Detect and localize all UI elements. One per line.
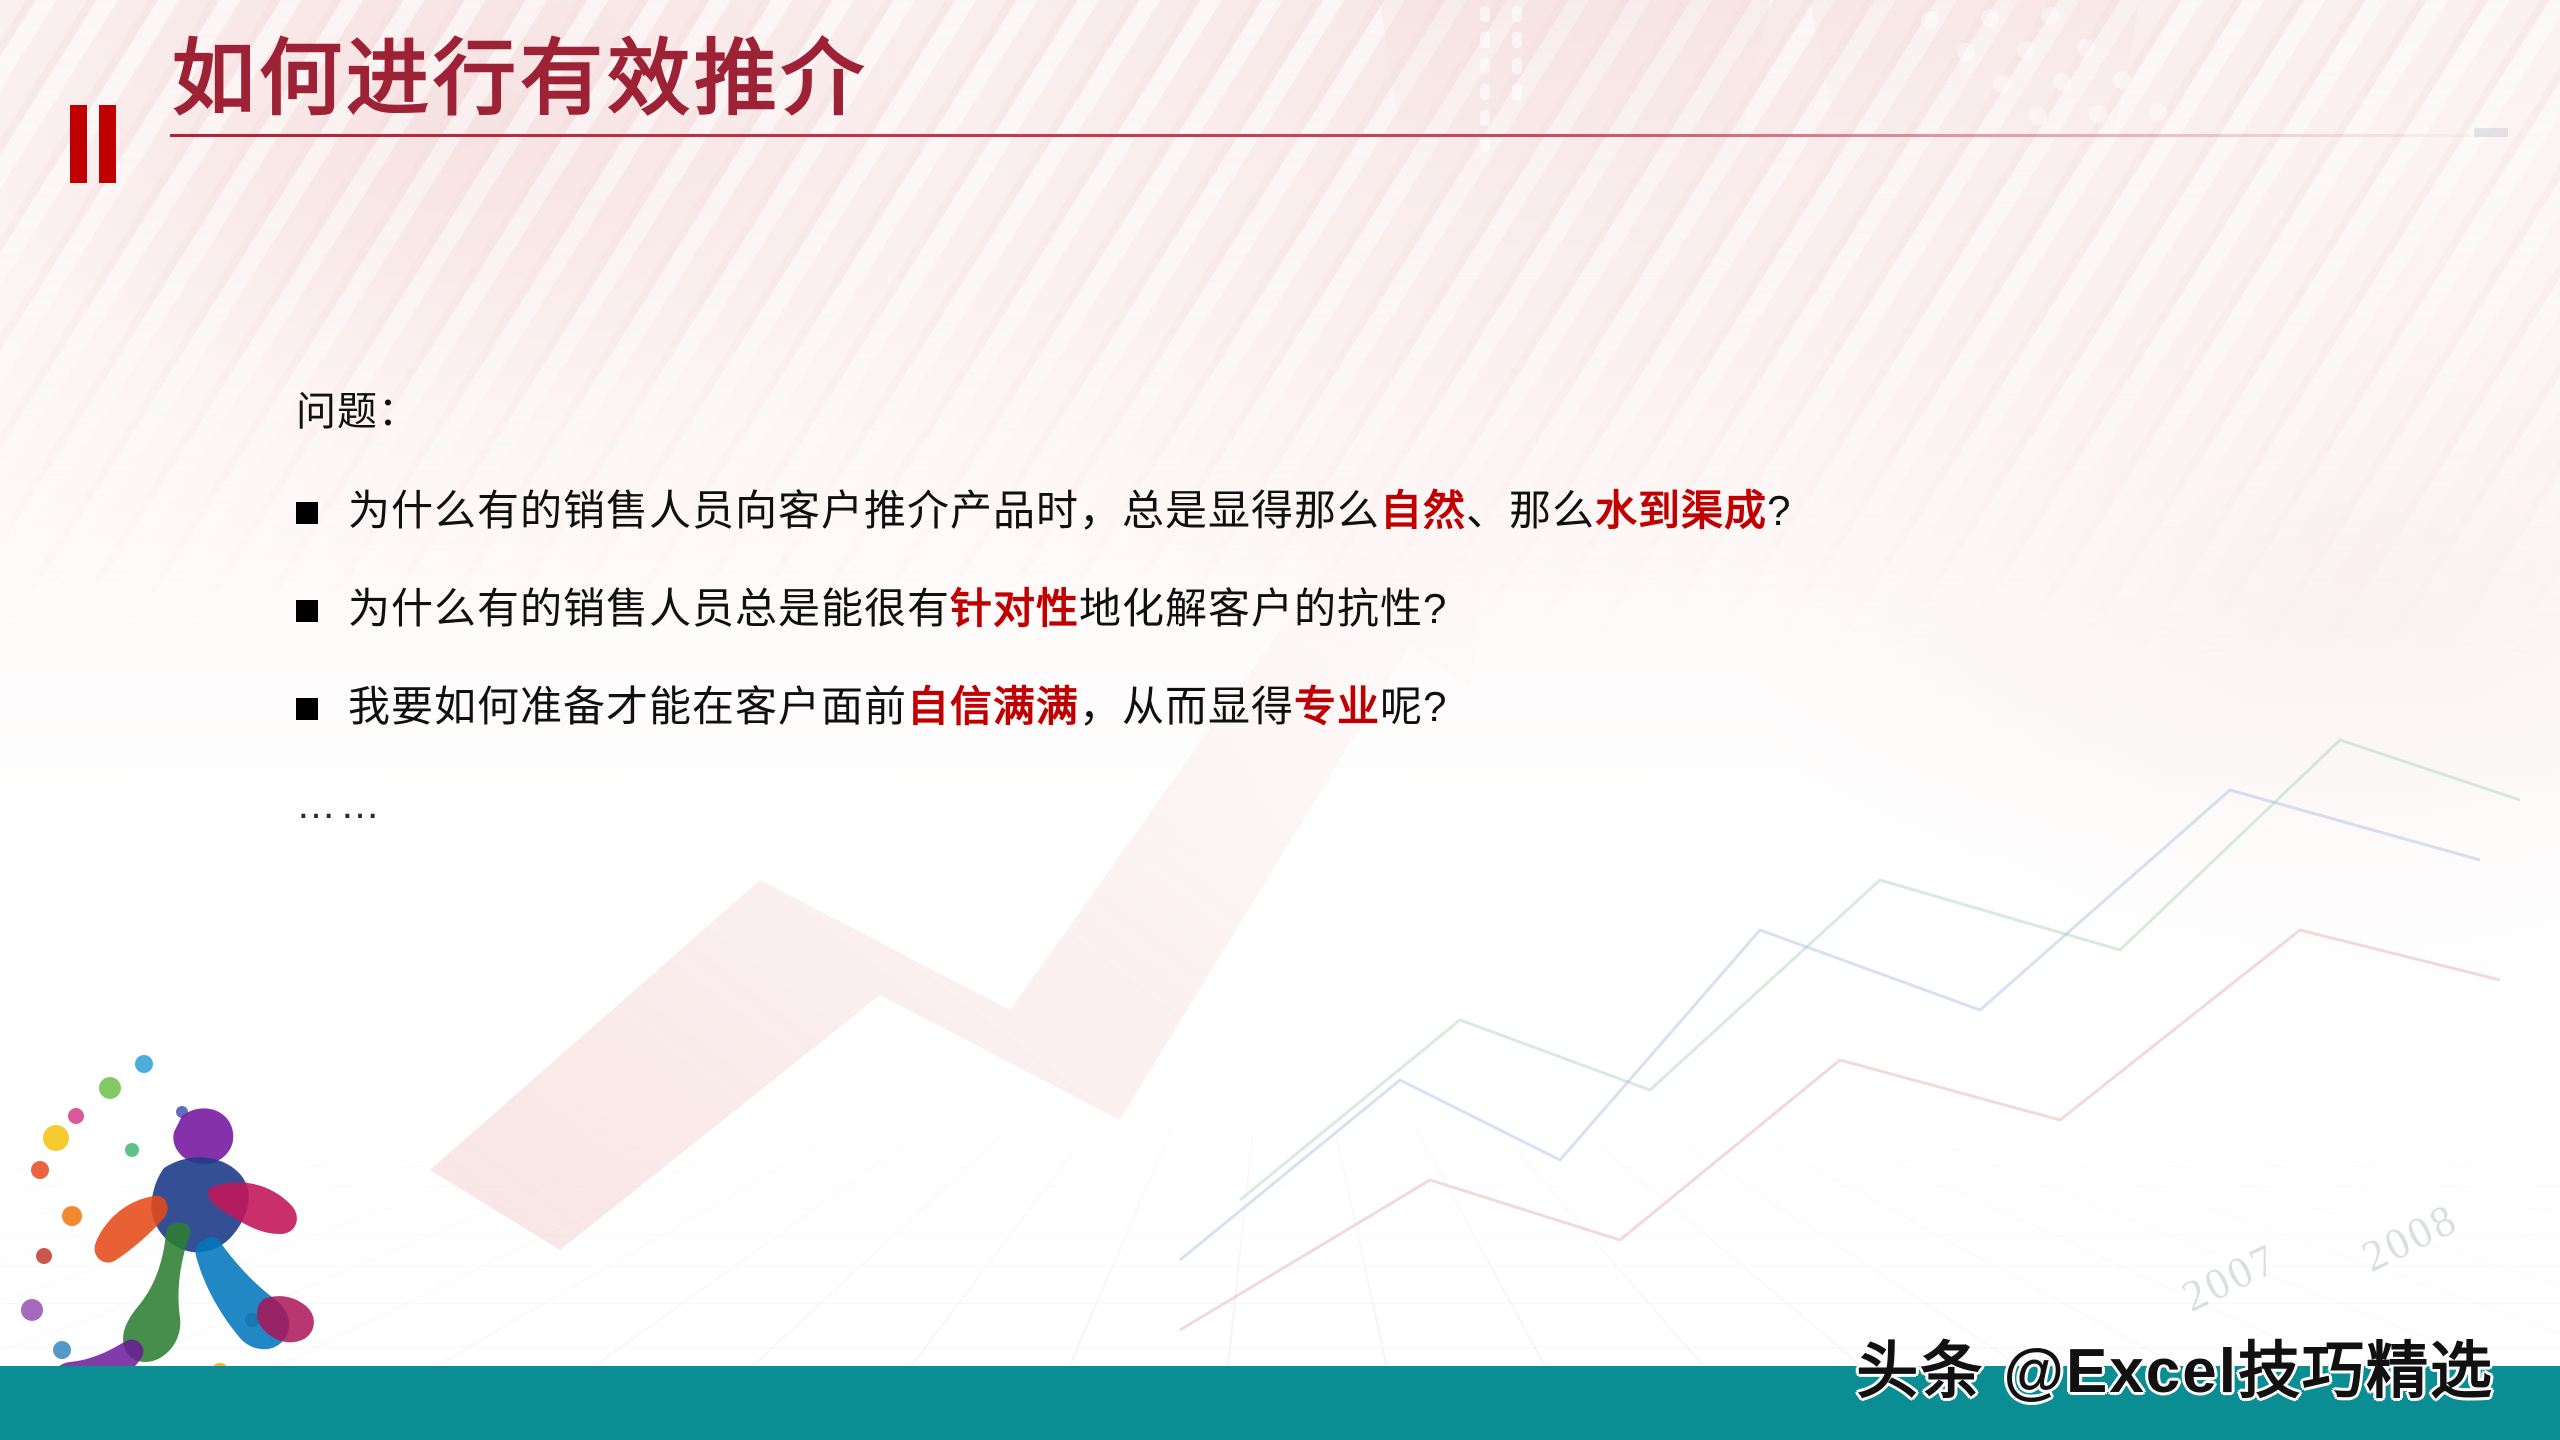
- square-bullet-icon: [296, 698, 318, 720]
- list-item-text: 为什么有的销售人员向客户推介产品时，总是显得那么自然、那么水到渠成?: [348, 488, 1791, 534]
- body-continuation: ……: [296, 783, 2296, 828]
- title-rule-end-cap: [2474, 128, 2508, 137]
- page-title: 如何进行有效推介: [172, 34, 868, 124]
- list-item: 为什么有的销售人员向客户推介产品时，总是显得那么自然、那么水到渠成?: [296, 488, 2296, 534]
- watermark-text: 头条 @Excel技巧精选: [1856, 1320, 2494, 1410]
- list-item: 为什么有的销售人员总是能很有针对性地化解客户的抗性?: [296, 586, 2296, 632]
- list-item-text: 我要如何准备才能在客户面前自信满满，从而显得专业呢?: [348, 684, 1447, 730]
- slide-header: 如何进行有效推介: [0, 10, 2560, 170]
- square-bullet-icon: [296, 600, 318, 622]
- slide-body: 问题： 为什么有的销售人员向客户推介产品时，总是显得那么自然、那么水到渠成? 为…: [296, 392, 2296, 828]
- presentation-slide: 如何进行有效推介 问题： 为什么有的销售人员向客户推介产品时，总是显得那么自然、…: [0, 0, 2560, 1440]
- list-item: 我要如何准备才能在客户面前自信满满，从而显得专业呢?: [296, 684, 2296, 730]
- body-lead-label: 问题：: [296, 392, 2296, 432]
- square-bullet-icon: [296, 502, 318, 524]
- title-underline-rule: [170, 134, 2500, 137]
- title-accent-bars-icon: [70, 105, 128, 183]
- list-item-text: 为什么有的销售人员总是能很有针对性地化解客户的抗性?: [348, 586, 1447, 632]
- runner-silhouette-icon: [14, 1020, 374, 1420]
